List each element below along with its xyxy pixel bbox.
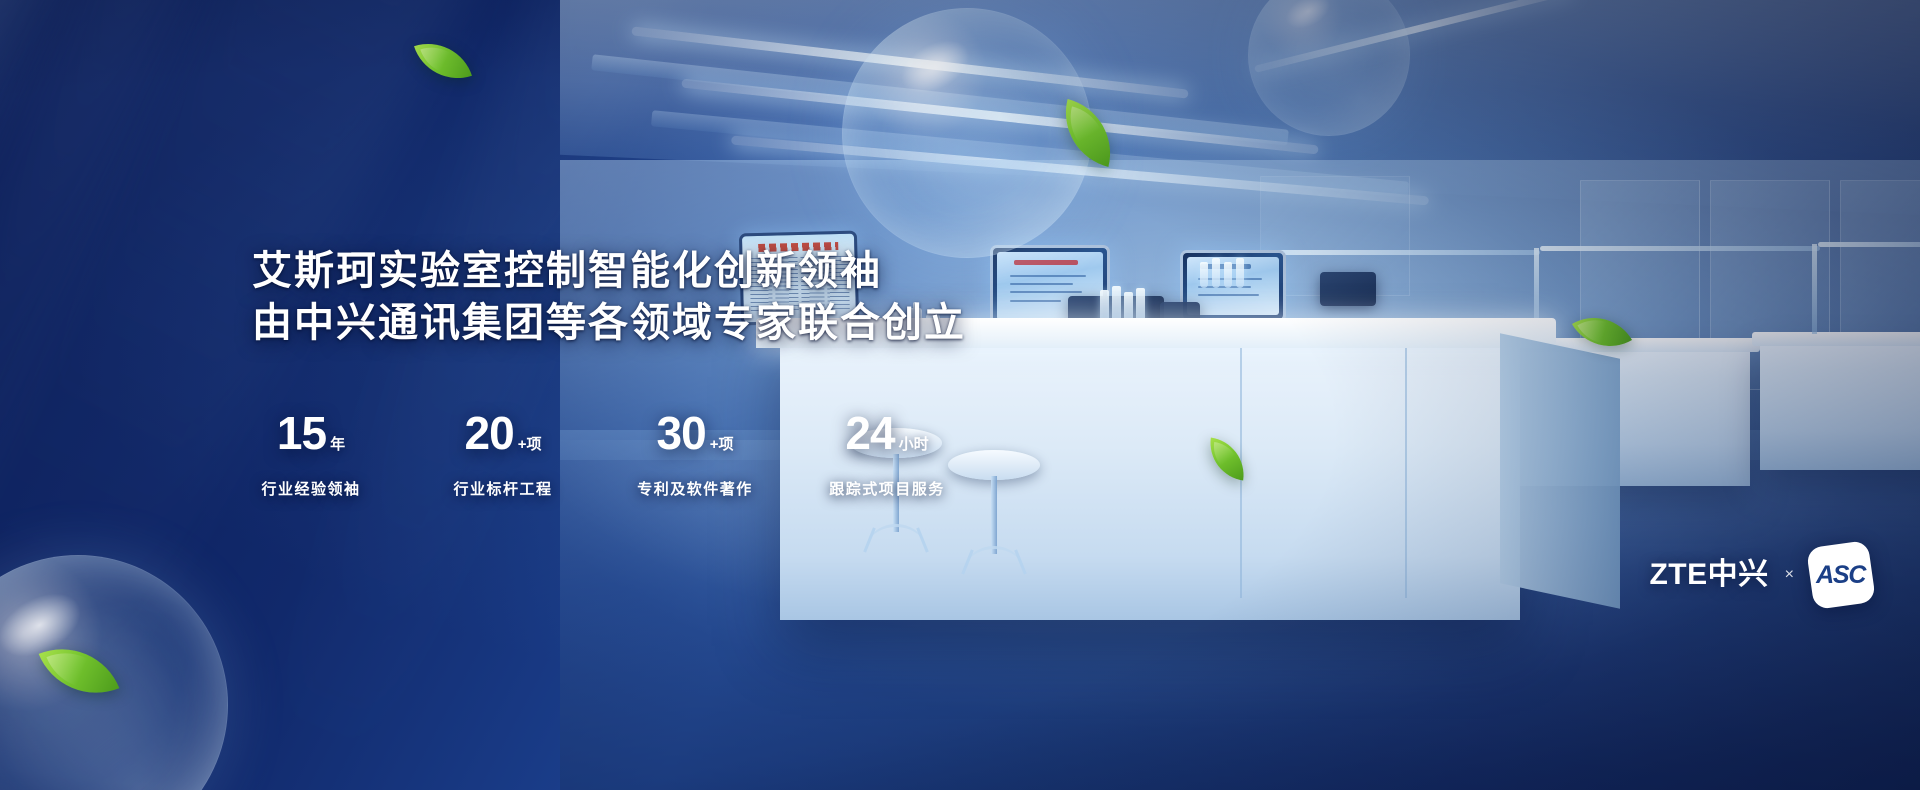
stat-unit: +项 xyxy=(518,437,542,452)
stat-number: 15 xyxy=(277,410,326,456)
stats-row: 15 年 行业经验领袖 20 +项 行业标杆工程 30 +项 专利及软件著作 xyxy=(252,410,946,499)
stat-number-row: 15 年 xyxy=(252,410,370,464)
stat-item: 20 +项 行业标杆工程 xyxy=(444,410,562,499)
partnership-cross: × xyxy=(1785,566,1794,584)
stat-number: 30 xyxy=(657,410,706,456)
stat-item: 24 小时 跟踪式项目服务 xyxy=(828,410,946,499)
stat-caption: 跟踪式项目服务 xyxy=(828,478,946,499)
hero-banner: 艾斯珂实验室控制智能化创新领袖 由中兴通讯集团等各领域专家联合创立 15 年 行… xyxy=(0,0,1920,790)
stat-number-row: 20 +项 xyxy=(444,410,562,464)
stat-number-row: 30 +项 xyxy=(636,410,754,464)
headline-line-2: 由中兴通讯集团等各领域专家联合创立 xyxy=(252,297,966,349)
stat-number-row: 24 小时 xyxy=(828,410,946,464)
stat-item: 30 +项 专利及软件著作 xyxy=(636,410,754,499)
stat-unit: +项 xyxy=(710,437,734,452)
asc-logo-badge: ASC xyxy=(1806,540,1876,610)
stat-caption: 行业标杆工程 xyxy=(444,478,562,499)
headline-line-1: 艾斯珂实验室控制智能化创新领袖 xyxy=(252,245,966,297)
stat-item: 15 年 行业经验领袖 xyxy=(252,410,370,499)
stat-number: 20 xyxy=(465,410,514,456)
stat-unit: 小时 xyxy=(899,437,929,452)
stat-unit: 年 xyxy=(330,437,345,452)
stat-caption: 行业经验领袖 xyxy=(252,478,370,499)
stat-caption: 专利及软件著作 xyxy=(636,478,754,499)
stat-number: 24 xyxy=(845,410,894,456)
zte-logo: ZTE中兴 xyxy=(1649,560,1768,590)
banner-content: 艾斯珂实验室控制智能化创新领袖 由中兴通讯集团等各领域专家联合创立 15 年 行… xyxy=(0,0,1100,790)
asc-logo-text: ASC xyxy=(1816,561,1865,590)
headline: 艾斯珂实验室控制智能化创新领袖 由中兴通讯集团等各领域专家联合创立 xyxy=(252,245,966,349)
logo-lockup: ZTE中兴 × ASC xyxy=(1649,544,1872,606)
